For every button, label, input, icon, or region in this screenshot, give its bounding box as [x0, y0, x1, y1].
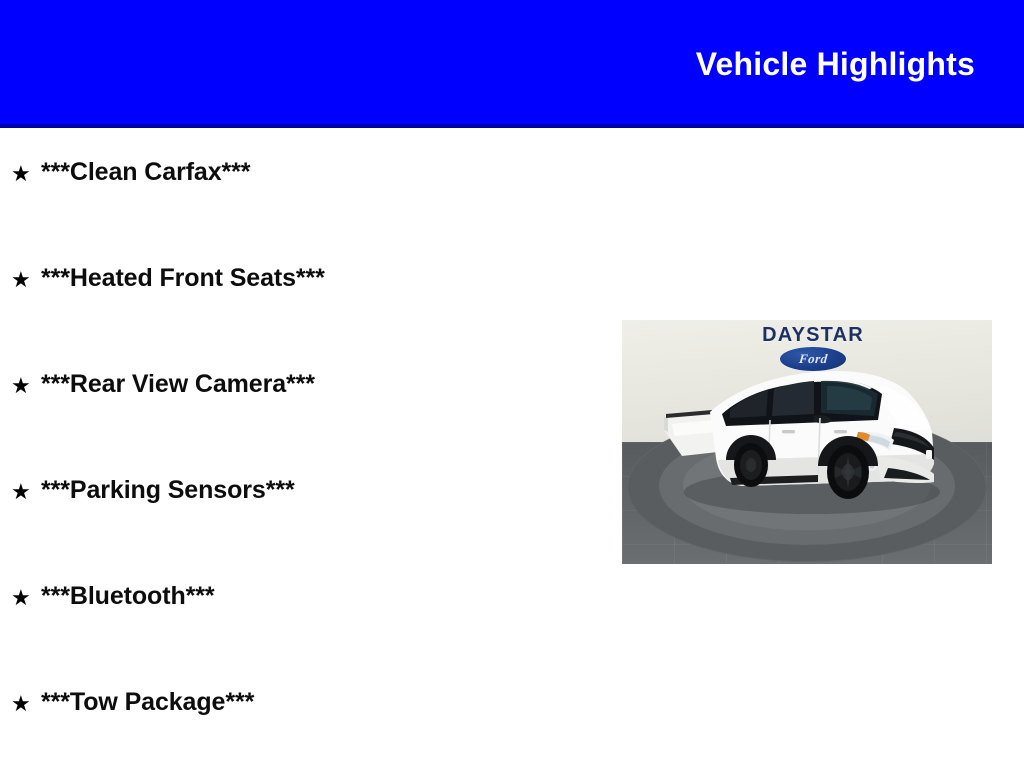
vehicle-photo: DAYSTAR Ford [622, 320, 992, 564]
highlight-label: ***Bluetooth*** [41, 584, 215, 609]
star-icon: ★ [11, 693, 41, 715]
highlight-label: ***Tow Package*** [41, 690, 254, 715]
showroom-scene: DAYSTAR Ford [622, 320, 992, 564]
list-item: ★ ***Clean Carfax*** [0, 132, 620, 238]
star-icon: ★ [11, 481, 41, 503]
page-title: Vehicle Highlights [696, 46, 975, 83]
list-item: ★ ***Rear View Camera*** [0, 344, 620, 450]
list-item: ★ ***Heated Front Seats*** [0, 238, 620, 344]
page-header-banner: Vehicle Highlights [0, 0, 1024, 128]
star-icon: ★ [11, 375, 41, 397]
list-item: ★ ***Bluetooth*** [0, 556, 620, 662]
highlight-label: ***Rear View Camera*** [41, 372, 315, 397]
highlight-label: ***Heated Front Seats*** [41, 266, 325, 291]
list-item: ★ ***Parking Sensors*** [0, 450, 620, 556]
star-icon: ★ [11, 587, 41, 609]
highlight-label: ***Parking Sensors*** [41, 478, 295, 503]
star-icon: ★ [11, 269, 41, 291]
highlight-label: ***Clean Carfax*** [41, 160, 250, 185]
star-icon: ★ [11, 163, 41, 185]
list-item: ★ ***Tow Package*** [0, 662, 620, 768]
pickup-truck-image [622, 320, 992, 564]
vehicle-highlights-list: ★ ***Clean Carfax*** ★ ***Heated Front S… [0, 132, 620, 768]
